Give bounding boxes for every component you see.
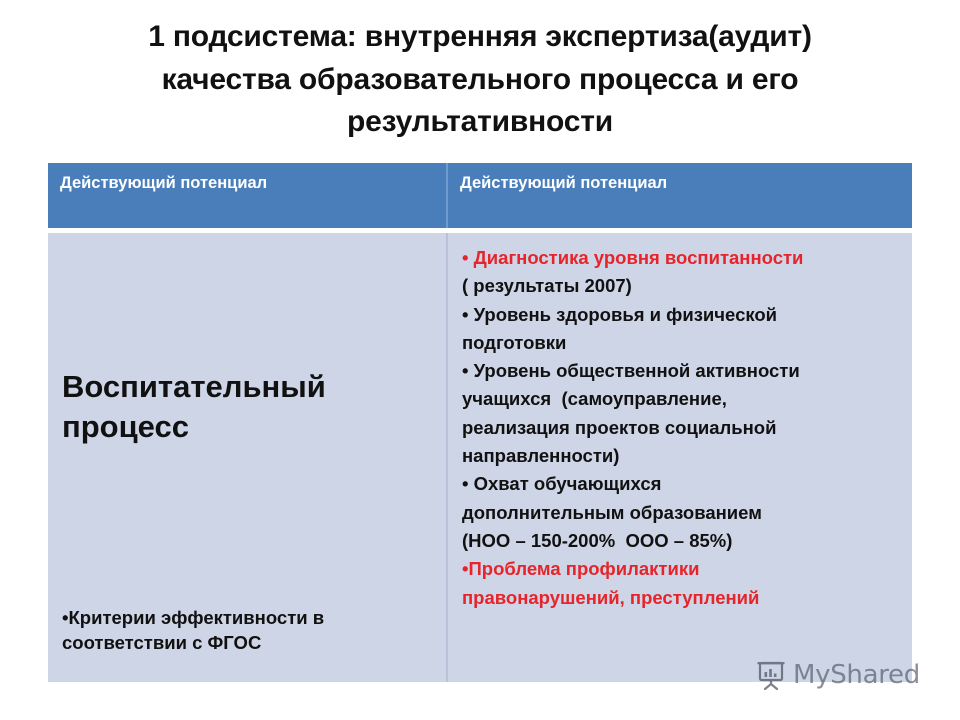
bullet-line: дополнительным образованием — [462, 499, 904, 527]
bullet-line: учащихся (самоуправление, — [462, 385, 904, 413]
process-label: Воспитательный процесс — [48, 233, 446, 446]
bullet-line: направленности) — [462, 442, 904, 470]
title-line-2: качества образовательного процесса и его — [30, 59, 930, 102]
title-line-3: результативности — [30, 101, 930, 144]
table-cell-process: Воспитательный процесс •Критерии эффекти… — [48, 233, 448, 682]
bullet-line: • Охват обучающихся — [462, 470, 904, 498]
bullet-line: • Уровень общественной активности — [462, 357, 904, 385]
bullet-line: подготовки — [462, 329, 904, 357]
table-header-cell-left: Действующий потенциал — [48, 163, 448, 228]
page-title: 1 подсистема: внутренняя экспертиза(ауди… — [30, 0, 930, 144]
table-cell-potential: • Диагностика уровня воспитанности ( рез… — [448, 233, 912, 682]
criteria-block: •Критерии эффективности в соответствии с… — [48, 606, 446, 682]
bullet-line: (НОО – 150-200% ООО – 85%) — [462, 527, 904, 555]
table-header-label-right: Действующий потенциал — [460, 174, 667, 192]
bullet-line: реализация проектов социальной — [462, 414, 904, 442]
presentation-board-icon — [756, 660, 786, 690]
bullet-line: правонарушений, преступлений — [462, 584, 904, 612]
content-table: Действующий потенциал Действующий потенц… — [48, 163, 912, 682]
criteria-line-2: соответствии с ФГОС — [62, 631, 436, 656]
title-line-1: 1 подсистема: внутренняя экспертиза(ауди… — [30, 16, 930, 59]
watermark: MyShared — [756, 660, 920, 690]
bullet-line: ( результаты 2007) — [462, 272, 904, 300]
bullet-line: • Диагностика уровня воспитанности — [462, 244, 904, 272]
bullet-line: •Проблема профилактики — [462, 555, 904, 583]
bullet-line: • Уровень здоровья и физической — [462, 301, 904, 329]
criteria-line-1: •Критерии эффективности в — [62, 606, 436, 631]
table-header-row: Действующий потенциал Действующий потенц… — [48, 163, 912, 228]
table-header-cell-right: Действующий потенциал — [448, 163, 912, 228]
table-row: Воспитательный процесс •Критерии эффекти… — [48, 233, 912, 682]
table-header-label-left: Действующий потенциал — [60, 174, 267, 192]
watermark-label: MyShared — [793, 660, 920, 690]
